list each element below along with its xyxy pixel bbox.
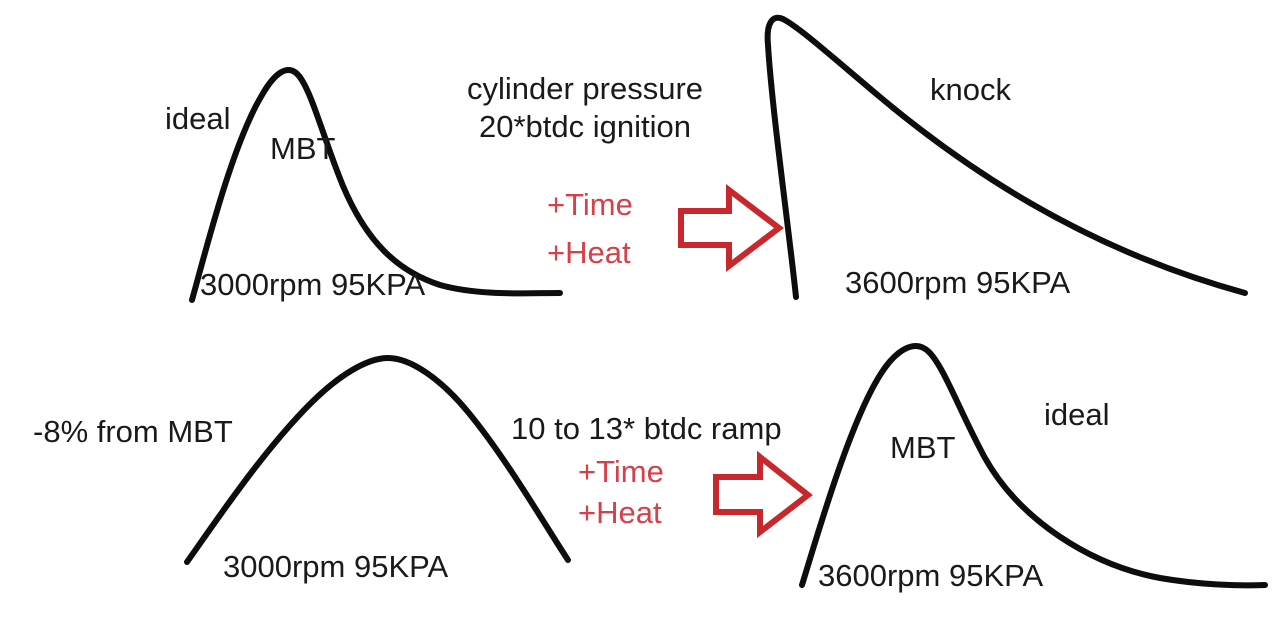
retarded-mbt-3000rpm-curve — [187, 358, 568, 562]
label-condition-top-left: 3000rpm 95KPA — [200, 266, 425, 304]
diagram-canvas: cylinder pressure 20*btdc ignition ideal… — [0, 0, 1280, 622]
label-plus-heat-top: +Heat — [547, 234, 631, 272]
label-minus-8-percent-from-mbt: -8% from MBT — [33, 413, 233, 451]
label-ideal-bottom-right: ideal — [1044, 396, 1110, 434]
label-plus-heat-bottom: +Heat — [578, 494, 662, 532]
label-condition-bottom-left: 3000rpm 95KPA — [223, 548, 448, 586]
label-plus-time-bottom: +Time — [578, 453, 664, 491]
right-block-arrow-icon — [681, 190, 779, 266]
heading-line-1: cylinder pressure — [440, 70, 730, 108]
heading-line-2: 20*btdc ignition — [440, 108, 730, 146]
label-knock-top-right: knock — [930, 71, 1011, 109]
label-condition-top-right: 3600rpm 95KPA — [845, 264, 1070, 302]
label-btdc-ramp-caption: 10 to 13* btdc ramp — [511, 410, 782, 448]
label-ideal-top-left: ideal — [165, 100, 231, 138]
label-mbt-bottom-right: MBT — [890, 429, 955, 467]
label-plus-time-top: +Time — [547, 186, 633, 224]
label-condition-bottom-right: 3600rpm 95KPA — [818, 557, 1043, 595]
knock-3600rpm-curve — [768, 18, 1245, 297]
ideal-mbt-3600rpm-curve — [802, 346, 1265, 585]
label-mbt-top-left: MBT — [270, 130, 335, 168]
right-block-arrow-icon — [716, 457, 808, 532]
